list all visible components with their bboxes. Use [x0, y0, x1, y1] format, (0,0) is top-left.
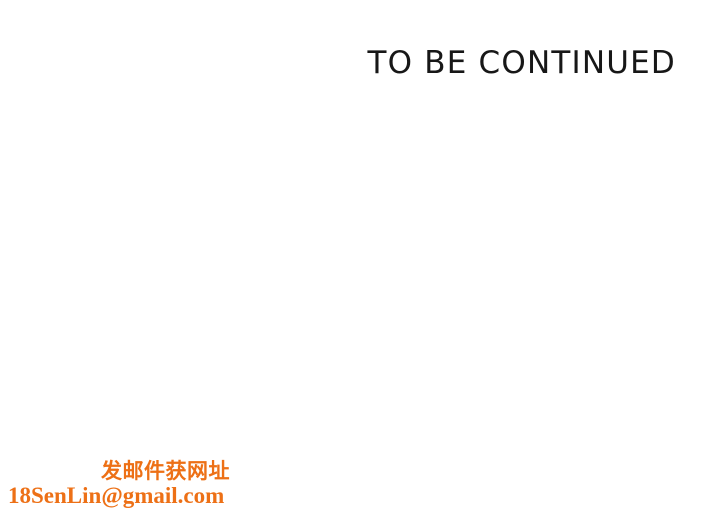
watermark-contact-prompt: 发邮件获网址 [8, 459, 230, 483]
watermark-email-address: 18SenLin@gmail.com [8, 483, 230, 509]
page-title: TO BE CONTINUED [367, 44, 676, 82]
headline-container: TO BE CONTINUED [0, 44, 676, 82]
comic-page: TO BE CONTINUED 发邮件获网址 18SenLin@gmail.co… [0, 0, 720, 513]
watermark-block: 发邮件获网址 18SenLin@gmail.com [8, 459, 230, 509]
